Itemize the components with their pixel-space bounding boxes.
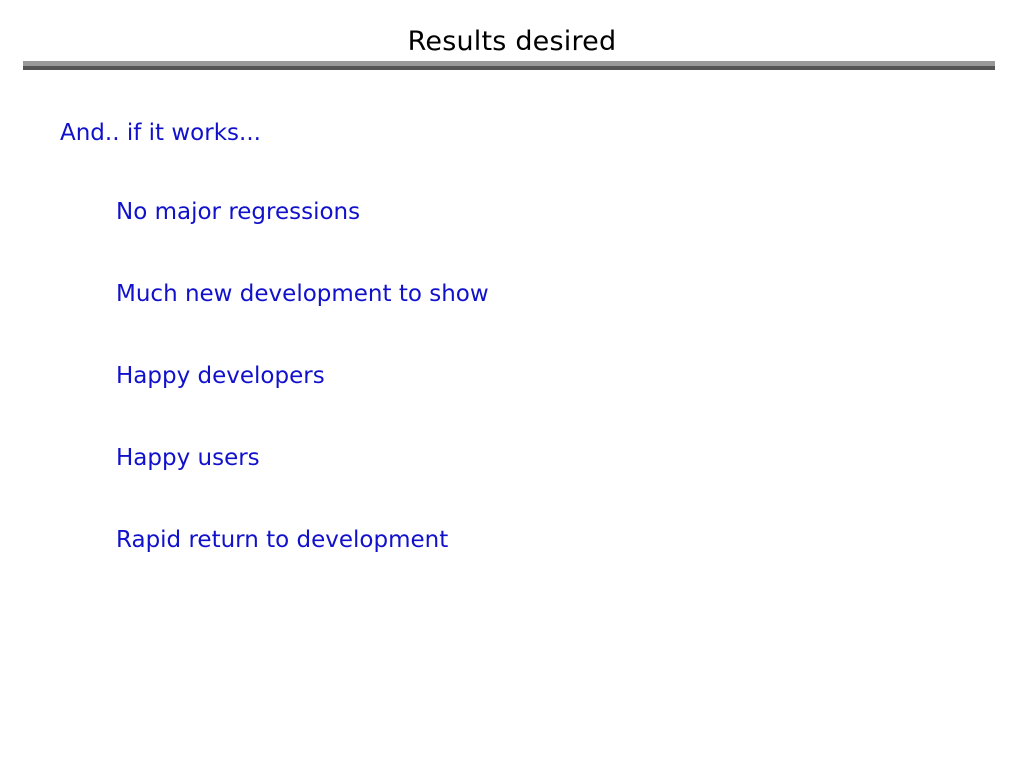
- intro-text: And.. if it works...: [60, 118, 261, 148]
- bullet-list: No major regressions Much new developmen…: [116, 198, 976, 554]
- list-item: Happy users: [116, 444, 976, 472]
- list-item: Happy developers: [116, 362, 976, 390]
- slide: Results desired And.. if it works... No …: [0, 0, 1024, 768]
- list-item: Rapid return to development: [116, 526, 976, 554]
- slide-body: And.. if it works... No major regression…: [0, 0, 1024, 768]
- list-item: No major regressions: [116, 198, 976, 226]
- list-item: Much new development to show: [116, 280, 976, 308]
